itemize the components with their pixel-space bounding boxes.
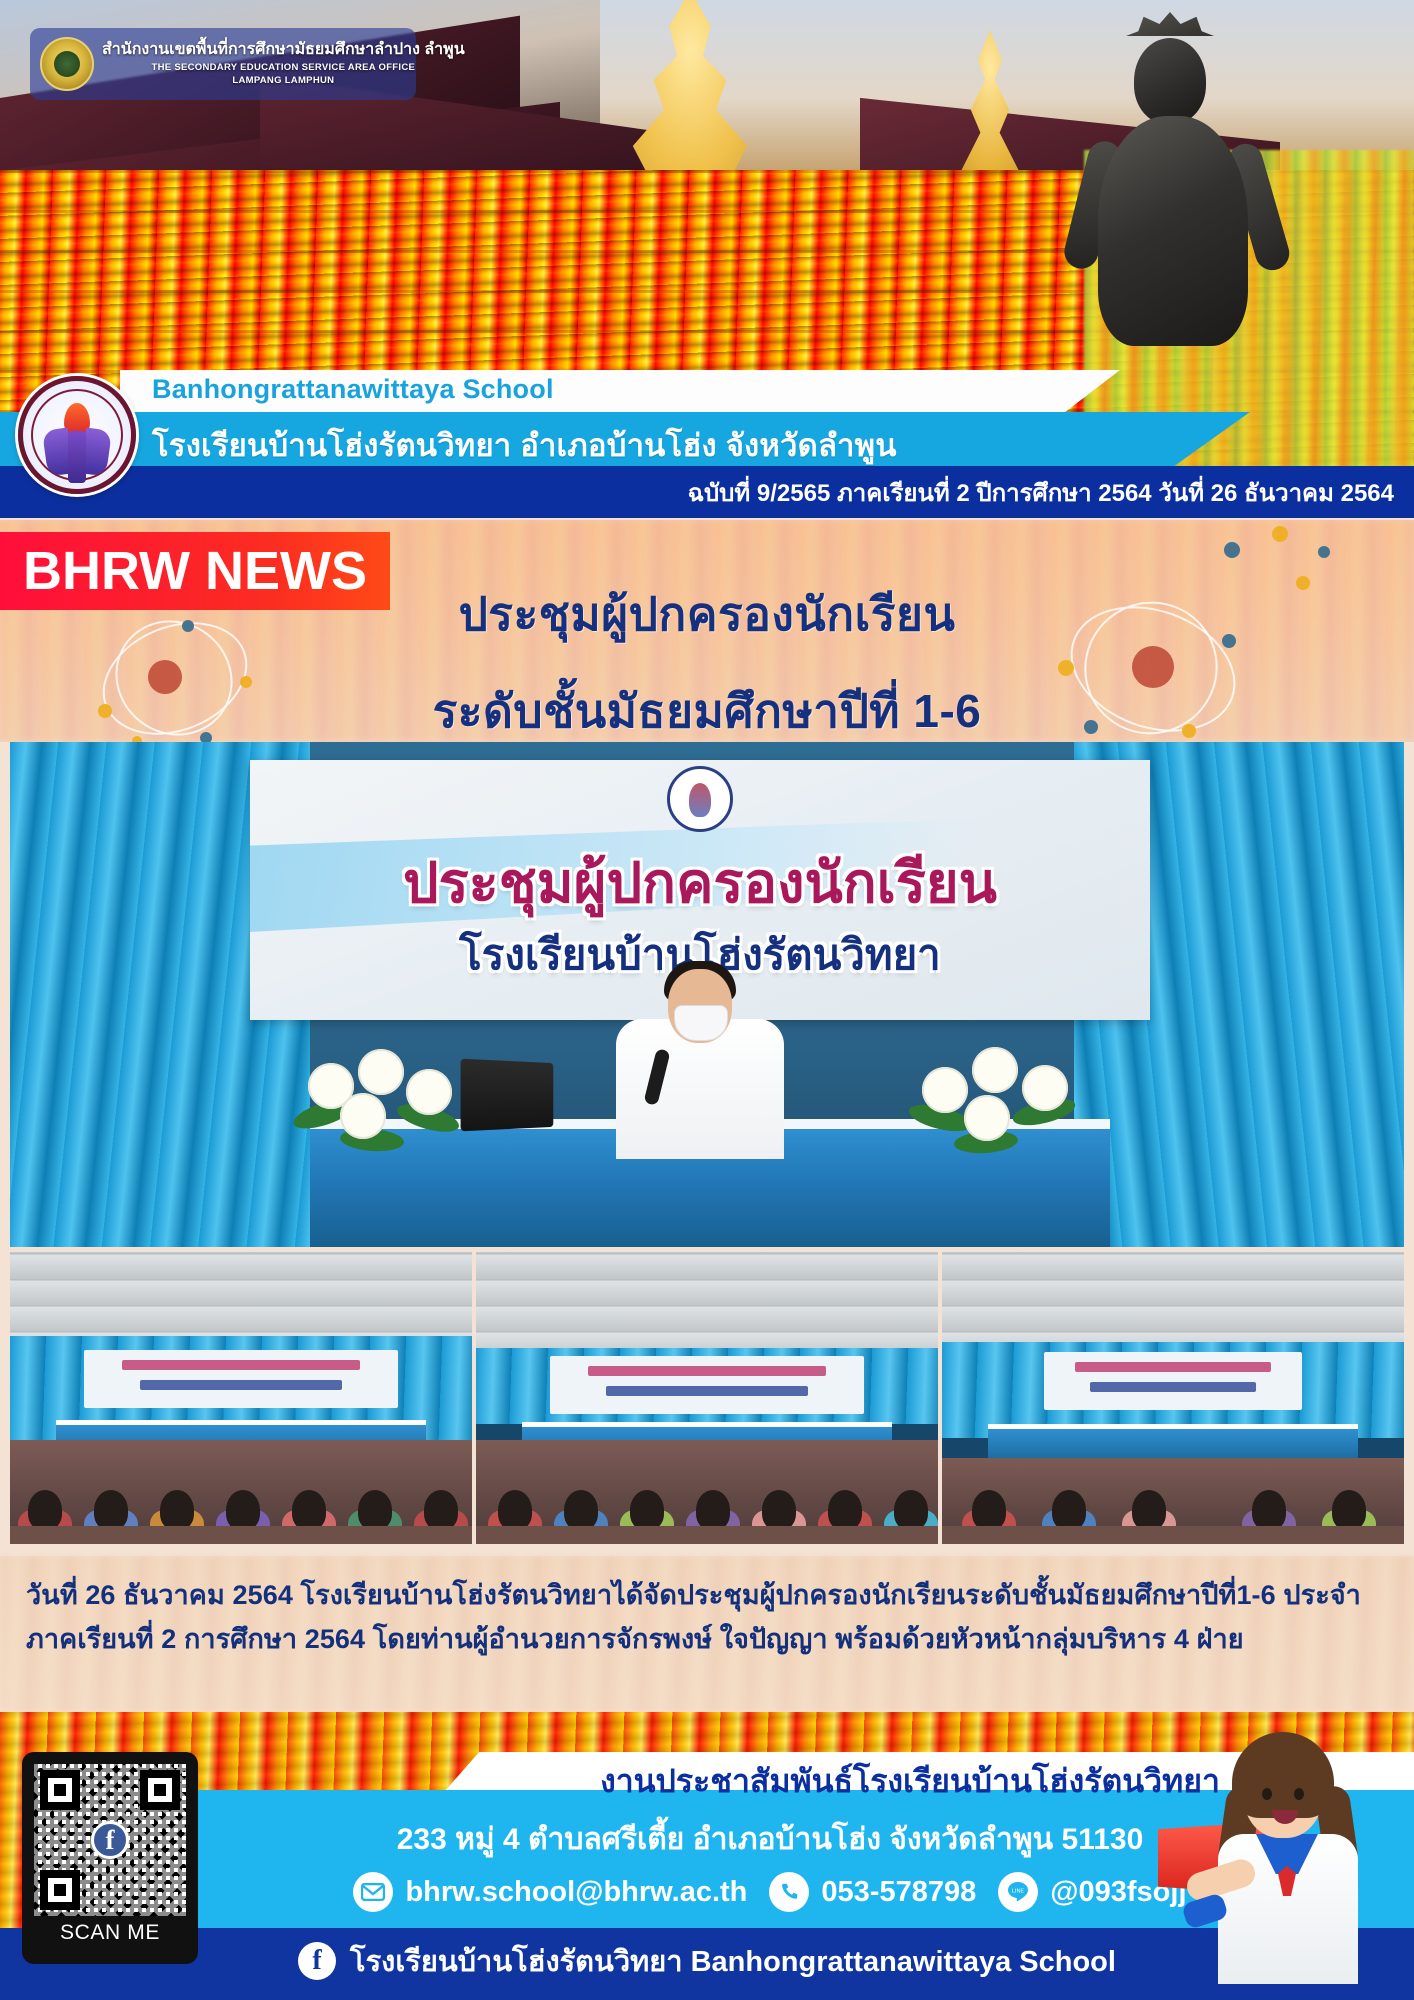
envelope-icon [353, 1872, 393, 1912]
flower-arrangement [904, 1041, 1104, 1161]
school-identity-banner: Banhongrattanawittaya School โรงเรียนบ้า… [0, 370, 1414, 498]
article-line-1: วันที่ 26 ธันวาคม 2564 โรงเรียนบ้านโฮ่งร… [26, 1574, 1388, 1618]
qr-code-icon[interactable]: f [34, 1764, 186, 1916]
contact-email[interactable]: bhrw.school@bhrw.ac.th [353, 1872, 747, 1912]
photo-thumbnail [942, 1252, 1404, 1544]
facebook-icon: f [298, 1942, 336, 1980]
sesao-header-plaque: สำนักงานเขตพื้นที่การศึกษามัธยมศึกษาลำปา… [30, 28, 416, 100]
facebook-icon: f [91, 1821, 129, 1859]
stage-banner-line-1: ประชุมผู้ปกครองนักเรียน [250, 838, 1150, 927]
qr-code-block[interactable]: f SCAN ME [22, 1752, 198, 1964]
sesao-english-line2: LAMPANG LAMPHUN [102, 76, 465, 87]
photo-thumbnail [476, 1252, 938, 1544]
sesao-thai-name: สำนักงานเขตพื้นที่การศึกษามัธยมศึกษาลำปา… [102, 41, 465, 59]
speaker-person [610, 957, 790, 1137]
line-chat-icon: LINE [998, 1872, 1038, 1912]
photo-thumbnail [10, 1252, 472, 1544]
announcer-girl-with-megaphone-icon [1170, 1726, 1390, 1988]
school-name-english: Banhongrattanawittaya School [152, 374, 554, 405]
main-event-photo: ประชุมผู้ปกครองนักเรียน โรงเรียนบ้านโฮ่ง… [10, 742, 1404, 1247]
school-name-thai: โรงเรียนบ้านโฮ่งรัตนวิทยา อำเภอบ้านโฮ่ง … [152, 420, 897, 470]
contact-phone[interactable]: 053-578798 [769, 1872, 976, 1912]
newsletter-page: สำนักงานเขตพื้นที่การศึกษามัธยมศึกษาลำปา… [0, 0, 1414, 2000]
face-mask-icon [674, 1005, 728, 1041]
svg-text:LINE: LINE [1012, 1889, 1025, 1895]
photo-strip [10, 1252, 1404, 1544]
sesao-english-line1: THE SECONDARY EDUCATION SERVICE AREA OFF… [102, 63, 465, 74]
school-logo-icon [18, 376, 136, 494]
phone-text: 053-578798 [821, 1876, 976, 1909]
bhrw-news-badge: BHRW NEWS [0, 532, 390, 610]
scan-me-label: SCAN ME [34, 1921, 186, 1945]
phone-icon [769, 1872, 809, 1912]
issue-date-line: ฉบับที่ 9/2565 ภาคเรียนที่ 2 ปีการศึกษา … [688, 473, 1394, 512]
facebook-page-name: โรงเรียนบ้านโฮ่งรัตนวิทยา Banhongrattana… [350, 1938, 1116, 1984]
flower-arrangement [286, 1041, 486, 1161]
article-line-2: ภาคเรียนที่ 2 การศึกษา 2564 โดยท่านผู้อำ… [26, 1618, 1388, 1662]
email-text: bhrw.school@bhrw.ac.th [405, 1876, 747, 1909]
article-body: วันที่ 26 ธันวาคม 2564 โรงเรียนบ้านโฮ่งร… [0, 1556, 1414, 1712]
government-seal-icon [40, 37, 94, 91]
headline-line-2: ระดับชั้นมัธยมศึกษาปีที่ 1-6 [0, 675, 1414, 742]
bhrw-news-label: BHRW NEWS [23, 540, 367, 602]
news-headline-band: BHRW NEWS ประชุมผู้ปกครองนักเรียน ระดับช… [0, 520, 1414, 742]
bronze-deva-statue-icon [1064, 30, 1284, 350]
school-seal-icon [667, 766, 733, 832]
